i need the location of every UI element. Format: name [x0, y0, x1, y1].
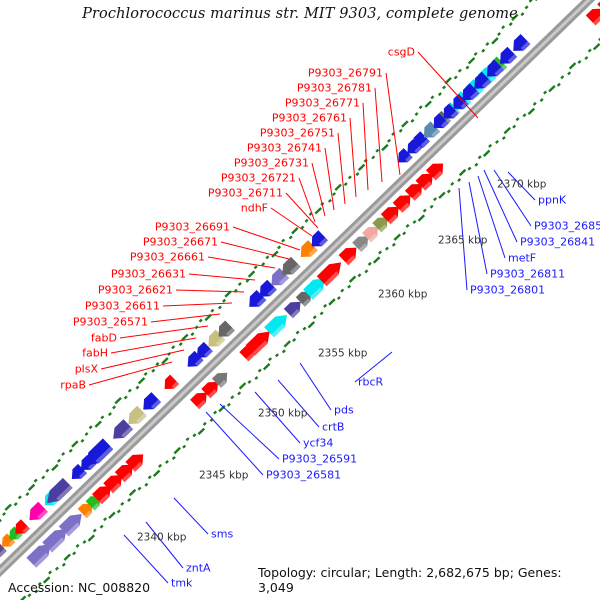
gc-tick: [62, 453, 64, 455]
gc-tick: [269, 358, 271, 360]
gc-tick: [138, 487, 140, 489]
gc-tick: [455, 76, 457, 78]
topology-label: Topology: circular; Length: 2,682,675 bp…: [258, 565, 600, 595]
gc-tick: [369, 263, 371, 265]
gene-label[interactable]: P9303_26591: [282, 454, 357, 465]
gene-label[interactable]: zntA: [186, 563, 211, 574]
gc-tick: [248, 381, 250, 383]
gc-tick: [359, 165, 365, 171]
gc-tick: [152, 370, 154, 372]
gc-tick: [503, 137, 505, 139]
gc-tick: [544, 91, 546, 93]
gc-tick: [475, 164, 477, 166]
gc-tick: [530, 0, 532, 2]
gene-label[interactable]: P9303_26691: [155, 222, 230, 233]
gc-tick: [109, 413, 111, 415]
gc-tick: [139, 378, 145, 384]
label-leader-line: [151, 314, 220, 322]
gc-tick: [335, 184, 341, 190]
gc-tick: [502, 26, 504, 28]
gc-tick: [118, 510, 120, 512]
gc-tick: [15, 503, 17, 505]
gc-tick: [172, 346, 174, 348]
gc-tick: [73, 552, 75, 554]
gene-label[interactable]: P9303_26721: [221, 173, 296, 184]
gc-tick: [42, 476, 44, 478]
gc-tick: [349, 176, 351, 178]
gene-label[interactable]: P9303_26761: [272, 113, 347, 124]
gc-tick: [338, 297, 340, 299]
gc-tick: [303, 327, 305, 329]
gc-tick: [129, 390, 131, 392]
gc-tick: [439, 93, 441, 95]
gc-tick: [345, 183, 347, 185]
gc-tick: [504, 128, 510, 134]
gene-label[interactable]: P9303_26631: [111, 269, 186, 280]
gc-tick: [333, 193, 335, 195]
gc-tick: [406, 225, 408, 227]
genome-map-viewer: Prochlorococcus marinus str. MIT 9303, c…: [0, 0, 600, 600]
gc-tick: [83, 541, 85, 543]
label-leader-line: [221, 242, 289, 259]
gc-tick: [52, 465, 58, 471]
gc-tick: [341, 289, 343, 291]
gc-tick: [173, 457, 175, 459]
scale-tick-label: 2365 kbp: [438, 236, 487, 247]
gc-tick: [0, 520, 1, 522]
gc-tick: [460, 170, 466, 176]
page-title: Prochlorococcus marinus str. MIT 9303, c…: [0, 6, 600, 22]
gc-tick: [76, 545, 78, 547]
gc-tick: [479, 156, 481, 158]
gc-tick: [393, 244, 395, 246]
gc-tick: [166, 461, 168, 463]
gc-tick: [26, 493, 28, 495]
gc-tick: [204, 423, 206, 425]
accession-label: Accession: NC_008820: [8, 580, 150, 595]
gene-label[interactable]: P9303_26791: [308, 68, 383, 79]
gene-label[interactable]: P9303_26781: [297, 83, 372, 94]
gc-tick: [314, 316, 316, 318]
label-leader-line: [189, 274, 255, 280]
gc-tick: [528, 109, 534, 115]
gene-label[interactable]: P9303_26771: [285, 98, 360, 109]
gc-tick: [292, 228, 298, 234]
gc-tick: [70, 450, 72, 452]
gc-tick: [262, 263, 264, 265]
gc-tick: [348, 286, 350, 288]
gene-label[interactable]: P9303_26731: [234, 158, 309, 169]
gc-tick: [484, 151, 490, 157]
gc-tick: [400, 130, 402, 132]
gc-tick: [510, 23, 512, 25]
gc-tick: [228, 404, 230, 406]
gc-tick: [5, 504, 11, 510]
gc-tick: [439, 192, 445, 198]
gc-tick: [193, 434, 195, 436]
gc-tick: [211, 310, 213, 312]
label-leader-line: [111, 338, 196, 353]
gc-tick: [278, 246, 280, 248]
gc-tick: [489, 145, 491, 147]
gc-tick: [259, 369, 261, 371]
gc-tick: [458, 179, 460, 181]
gc-tick: [264, 364, 270, 370]
gene-label[interactable]: P9303_26661: [130, 252, 205, 263]
gc-tick: [58, 460, 60, 462]
gc-tick: [321, 312, 323, 314]
gene-label[interactable]: ppnK: [538, 195, 566, 206]
gc-tick: [282, 240, 284, 242]
gc-tick: [214, 411, 216, 413]
gc-tick: [358, 274, 360, 276]
gc-tick: [115, 398, 121, 404]
gc-tick: [174, 448, 180, 454]
gene-label[interactable]: ndhF: [241, 203, 268, 214]
gene-label[interactable]: P9303_26851: [534, 221, 600, 232]
gc-tick: [35, 480, 37, 482]
gc-tick: [104, 518, 106, 520]
gc-tick: [293, 339, 295, 341]
gc-tick: [101, 416, 103, 418]
gc-tick: [516, 118, 518, 120]
gc-tick: [469, 58, 475, 64]
gc-tick: [568, 72, 570, 74]
label-leader-line: [174, 498, 208, 534]
gc-tick: [431, 96, 433, 98]
gc-tick: [482, 50, 484, 52]
gc-tick: [394, 234, 400, 240]
scale-tick-label: 2355 kbp: [318, 349, 367, 360]
gc-tick: [95, 421, 101, 427]
gc-tick: [29, 485, 35, 491]
gene-label[interactable]: P9303_26801: [470, 285, 545, 296]
scale-tick-label: 2370 kbp: [497, 180, 546, 191]
gene-label[interactable]: P9303_26611: [85, 301, 160, 312]
label-leader-line: [338, 133, 345, 204]
gc-tick: [308, 322, 314, 328]
gene-label[interactable]: P9303_26741: [247, 143, 322, 154]
gene-label[interactable]: P9303_26621: [98, 285, 173, 296]
gc-tick: [128, 499, 130, 501]
gc-tick: [72, 441, 78, 447]
label-leader-line: [312, 163, 325, 216]
label-leader-line: [163, 303, 232, 306]
gc-tick: [534, 103, 536, 105]
gc-tick: [379, 251, 381, 253]
gc-tick: [350, 276, 356, 282]
gc-tick: [413, 221, 415, 223]
label-leader-line: [146, 522, 183, 568]
gc-tick: [329, 299, 335, 305]
gc-tick: [145, 484, 147, 486]
gc-tick: [296, 331, 298, 333]
gene-label[interactable]: metF: [508, 253, 536, 264]
gene-label[interactable]: P9303_26751: [260, 128, 335, 139]
gene-label[interactable]: P9303_26581: [266, 470, 341, 481]
gc-tick: [238, 392, 240, 394]
gc-tick: [498, 33, 500, 35]
gc-tick: [386, 247, 388, 249]
gc-tick: [200, 320, 202, 322]
gc-tick: [372, 156, 374, 158]
label-leader-line: [363, 103, 368, 190]
gc-tick: [570, 63, 576, 69]
gene-label[interactable]: P9303_26711: [208, 188, 283, 199]
gc-tick: [81, 440, 83, 442]
label-leader-line: [89, 362, 172, 385]
gc-tick: [403, 232, 405, 234]
gc-tick: [459, 70, 461, 72]
gc-tick: [121, 503, 123, 505]
gc-tick: [492, 38, 498, 44]
gc-tick: [374, 257, 380, 263]
gene-label[interactable]: pds: [334, 405, 354, 416]
gc-tick: [434, 198, 436, 200]
gc-tick: [154, 471, 160, 477]
gene-label[interactable]: plsX: [75, 364, 98, 375]
gc-tick: [418, 215, 424, 221]
gc-tick: [63, 564, 65, 566]
gc-tick: [315, 208, 321, 214]
gc-tick: [136, 386, 138, 388]
gc-tick: [290, 236, 292, 238]
gc-tick: [324, 305, 326, 307]
gc-tick: [496, 141, 498, 143]
gc-tick: [589, 49, 591, 51]
gene-label[interactable]: csgD: [388, 47, 415, 58]
label-leader-line: [350, 118, 356, 197]
scale-tick-label: 2345 kbp: [199, 471, 248, 482]
gc-tick: [301, 226, 303, 228]
gc-tick: [283, 350, 285, 352]
gc-tick: [594, 44, 600, 50]
gc-tick: [468, 167, 470, 169]
gc-tick: [376, 150, 378, 152]
gc-tick: [162, 358, 168, 364]
gc-tick: [255, 377, 257, 379]
gc-tick: [88, 535, 94, 541]
gc-tick: [156, 363, 158, 365]
gc-tick: [276, 354, 278, 356]
gene-label[interactable]: crtB: [322, 422, 344, 433]
gc-tick: [20, 596, 26, 600]
gene-label[interactable]: P9303_26571: [73, 317, 148, 328]
gc-tick: [101, 526, 103, 528]
gc-tick: [49, 571, 51, 573]
status-bar: Accession: NC_008820 Topology: circular;…: [0, 577, 600, 595]
gc-tick: [284, 341, 290, 347]
gc-tick: [255, 266, 257, 268]
gc-tick: [266, 256, 268, 258]
gene-label[interactable]: rpaB: [60, 380, 86, 391]
gene-label[interactable]: fabD: [91, 333, 117, 344]
gc-tick: [382, 145, 388, 151]
gc-tick: [219, 406, 225, 412]
gc-tick: [246, 280, 248, 282]
gc-tick: [585, 57, 587, 59]
gc-tick: [109, 512, 115, 518]
gc-tick: [549, 86, 555, 92]
gc-tick: [180, 343, 182, 345]
scale-tick-label: 2350 kbp: [258, 409, 307, 420]
gc-tick: [448, 190, 450, 192]
label-leader-line: [206, 412, 263, 475]
label-leader-line: [375, 88, 382, 182]
gc-tick: [486, 43, 488, 45]
gc-tick: [219, 306, 221, 308]
gene-label[interactable]: sms: [211, 529, 233, 540]
gc-tick: [475, 53, 477, 55]
gc-tick: [431, 206, 433, 208]
gene-label[interactable]: P9303_26811: [490, 269, 565, 280]
gc-tick: [130, 490, 136, 496]
label-leader-line: [286, 193, 318, 228]
gene-label[interactable]: P9303_26671: [143, 237, 218, 248]
gc-tick: [425, 101, 431, 107]
gc-tick: [305, 220, 307, 222]
label-leader-line: [386, 73, 400, 175]
gc-tick: [145, 373, 147, 375]
gc-tick: [424, 209, 426, 211]
gc-tick: [64, 554, 70, 560]
gc-tick: [113, 406, 115, 408]
gc-tick: [451, 183, 453, 185]
gc-tick: [46, 470, 48, 472]
gc-tick: [85, 433, 87, 435]
gc-tick: [558, 84, 560, 86]
gc-tick: [56, 567, 58, 569]
gc-tick: [411, 120, 413, 122]
gc-tick: [183, 446, 185, 448]
label-leader-line: [300, 363, 331, 410]
gc-tick: [239, 283, 241, 285]
gc-tick: [415, 113, 417, 115]
gc-tick: [249, 271, 255, 277]
gc-tick: [365, 270, 367, 272]
gene-label[interactable]: rbcR: [358, 377, 383, 388]
gc-tick: [388, 140, 390, 142]
gc-tick: [240, 383, 246, 389]
gc-tick: [420, 106, 422, 108]
gc-tick: [443, 86, 445, 88]
gc-tick: [19, 496, 21, 498]
scale-tick-label: 2340 kbp: [137, 533, 186, 544]
gene-label[interactable]: fabH: [82, 348, 108, 359]
gc-tick: [90, 426, 92, 428]
gc-tick: [94, 529, 96, 531]
gc-tick: [149, 476, 151, 478]
gc-tick: [198, 429, 204, 435]
gene-label[interactable]: P9303_26841: [520, 237, 595, 248]
scale-tick-label: 2360 kbp: [378, 290, 427, 301]
gc-tick: [159, 465, 161, 467]
gc-tick: [186, 438, 188, 440]
gc-tick: [402, 121, 408, 127]
gc-tick: [3, 513, 5, 515]
gc-tick: [329, 200, 331, 202]
gc-tick: [523, 114, 525, 116]
label-leader-line: [208, 257, 275, 268]
label-leader-line: [278, 380, 319, 427]
gc-tick: [578, 61, 580, 63]
gc-tick: [231, 396, 233, 398]
gc-tick: [356, 173, 358, 175]
gc-tick: [466, 66, 468, 68]
gene-label[interactable]: ycf34: [303, 438, 333, 449]
gc-tick: [513, 126, 515, 128]
gc-tick: [125, 396, 127, 398]
gc-tick: [561, 76, 563, 78]
gc-tick: [223, 300, 225, 302]
gc-tick: [191, 333, 193, 335]
gc-tick: [541, 99, 543, 101]
